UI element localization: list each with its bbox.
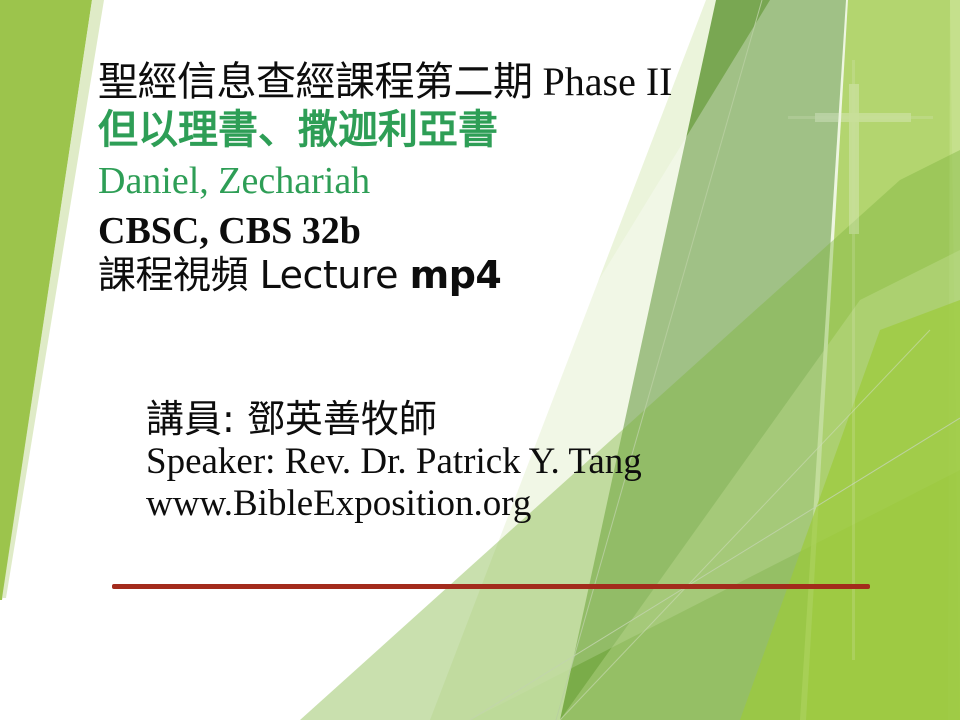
slide-content: 聖經信息查經課程第二期 Phase II 但以理書、撒迦利亞書 Daniel, … xyxy=(0,0,960,720)
books-title-en: Daniel, Zechariah xyxy=(98,162,898,200)
website-url: www.BibleExposition.org xyxy=(146,483,906,526)
red-divider-rule xyxy=(112,584,870,589)
presentation-slide: 聖經信息查經課程第二期 Phase II 但以理書、撒迦利亞書 Daniel, … xyxy=(0,0,960,720)
slide-title: 聖經信息查經課程第二期 Phase II xyxy=(98,62,898,102)
course-code: CBSC, CBS 32b xyxy=(98,212,898,250)
lecture-format-label: mp4 xyxy=(410,253,502,297)
lecture-label-en: Lecture xyxy=(248,253,410,297)
title-block: 聖經信息查經課程第二期 Phase II 但以理書、撒迦利亞書 Daniel, … xyxy=(98,62,898,294)
speaker-name-cn: 講員: 鄧英善牧師 xyxy=(146,398,906,441)
books-title-cn: 但以理書、撒迦利亞書 xyxy=(98,110,898,150)
lecture-line: 課程視頻 Lecture mp4 xyxy=(98,256,898,294)
lecture-label-cn: 課程視頻 xyxy=(98,253,248,297)
slide-title-cn: 聖經信息查經課程第二期 xyxy=(98,59,533,105)
speaker-block: 講員: 鄧英善牧師 Speaker: Rev. Dr. Patrick Y. T… xyxy=(146,398,906,526)
speaker-name-en: Speaker: Rev. Dr. Patrick Y. Tang xyxy=(146,441,906,484)
slide-title-en: Phase II xyxy=(533,59,673,104)
